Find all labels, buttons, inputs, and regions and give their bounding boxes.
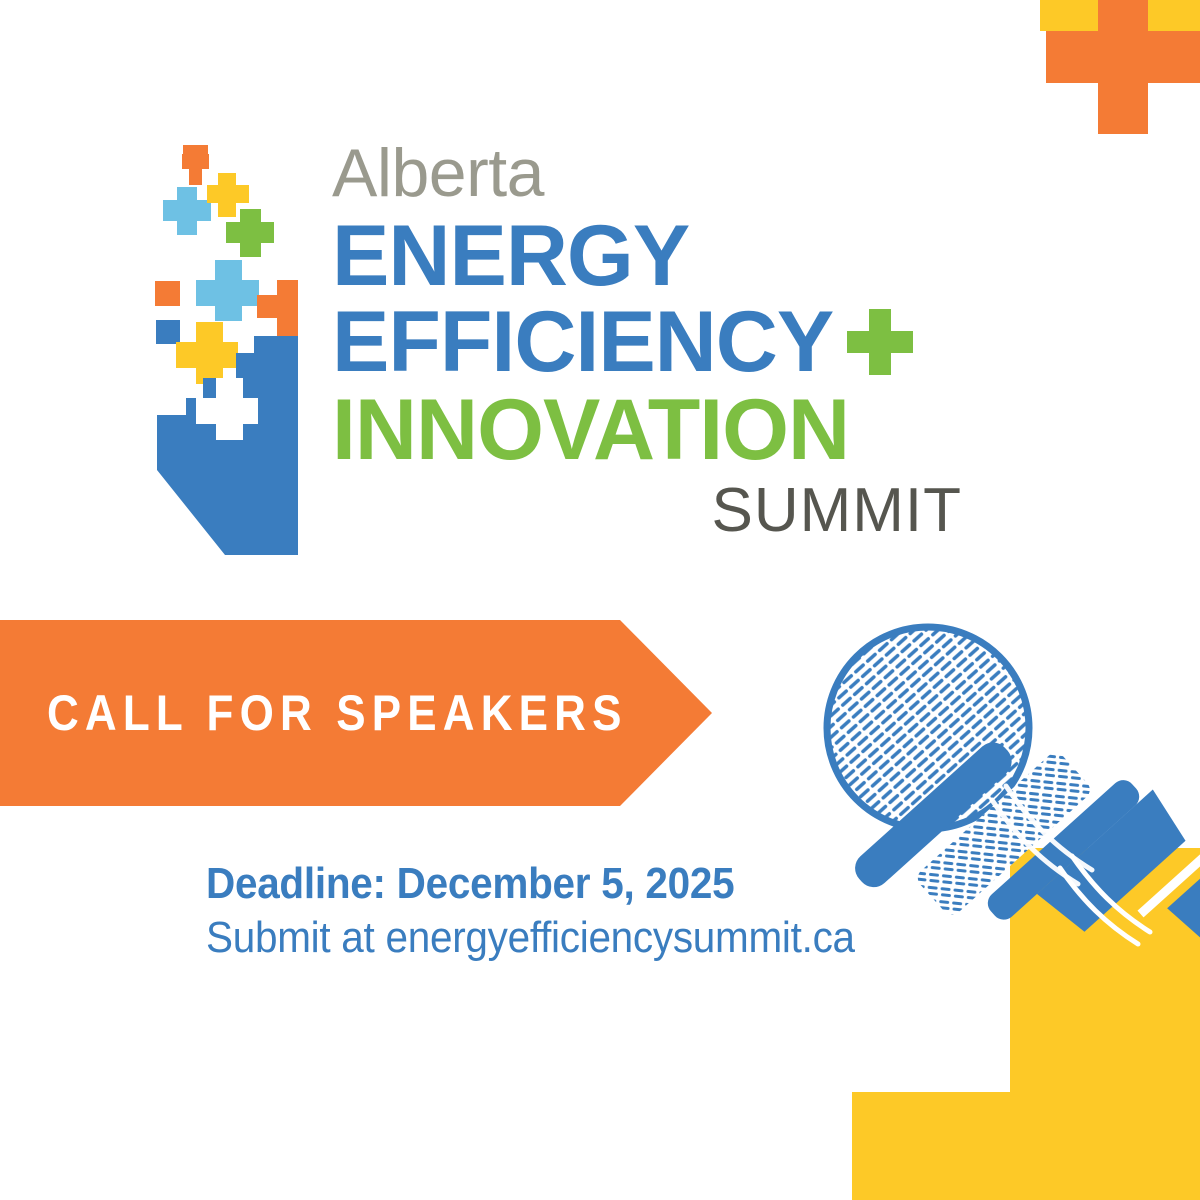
green-plus-horizontal (847, 331, 913, 353)
submit-url-text: Submit at energyefficiencysummit.ca (206, 910, 905, 966)
orange-plus-icon (1046, 0, 1200, 134)
deadline-text: Deadline: December 5, 2025 (206, 858, 905, 910)
yellow-block-lower (852, 1092, 1200, 1200)
logo-wordmark: Alberta ENERGY EFFICIENCY INNOVATION SUM… (332, 140, 970, 580)
logo-line-alberta: Alberta (332, 140, 970, 206)
alberta-pixel-burst-mark (150, 140, 315, 580)
banner-label: CALL FOR SPEAKERS (47, 620, 628, 806)
logo-line-efficiency-row: EFFICIENCY (332, 296, 970, 388)
green-plus-icon (847, 309, 913, 375)
poster-canvas: Alberta ENERGY EFFICIENCY INNOVATION SUM… (0, 0, 1200, 1200)
logo-line-innovation: INNOVATION (332, 384, 970, 476)
details-block: Deadline: December 5, 2025 Submit at ene… (206, 858, 966, 966)
logo-line-summit: SUMMIT (332, 478, 970, 544)
logo-line-efficiency: EFFICIENCY (332, 296, 833, 388)
logo-line-energy: ENERGY (332, 210, 970, 302)
summit-logo: Alberta ENERGY EFFICIENCY INNOVATION SUM… (150, 140, 970, 580)
call-for-speakers-banner: CALL FOR SPEAKERS (0, 620, 712, 806)
orange-plus-horizontal (1046, 31, 1200, 83)
